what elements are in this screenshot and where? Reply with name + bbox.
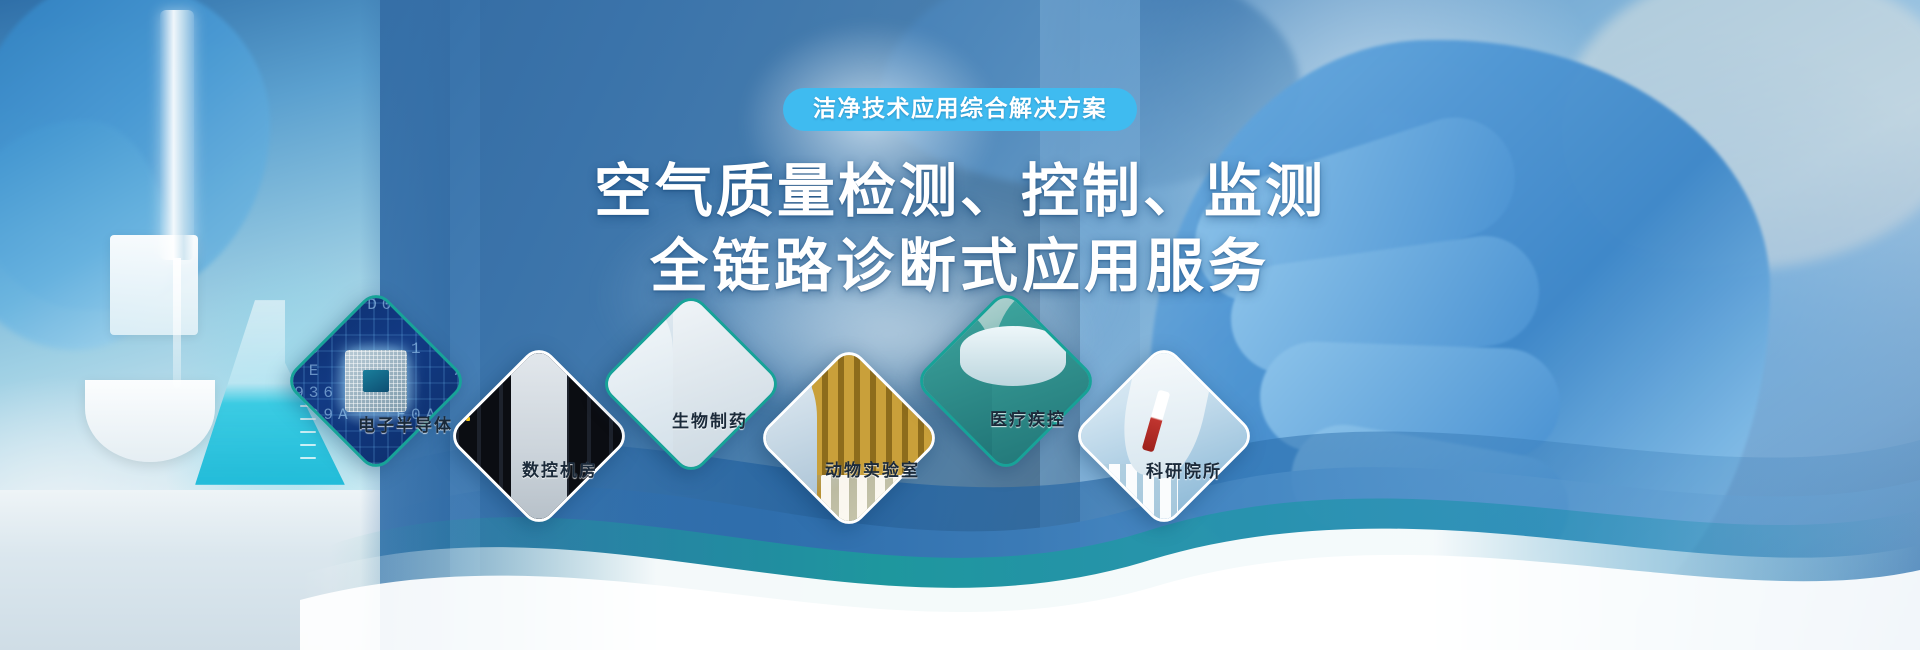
- industry-card-semiconductor[interactable]: 6A E2 F D0 5926 7 8 1 E2C 0 E BF3 A2693 …: [283, 288, 470, 475]
- industry-card-row: 6A E2 F D0 5926 7 8 1 E2C 0 E BF3 A2693 …: [0, 0, 1920, 650]
- chip-die-icon: [345, 350, 407, 412]
- biopharma-icon: [598, 291, 785, 478]
- card-label-medical: 医疗疾控: [990, 405, 1066, 430]
- server-led: [466, 417, 470, 421]
- animal-lab-icon: [756, 345, 943, 532]
- pharma-machine-shape: [673, 291, 779, 478]
- hero-banner: 洁净技术应用综合解决方案 空气质量检测、控制、监测 全链路诊断式应用服务 6A …: [0, 0, 1920, 650]
- card-label-animal-lab: 动物实验室: [825, 456, 920, 481]
- card-label-server-room: 数控机房: [522, 456, 598, 481]
- industry-card-medical[interactable]: [913, 288, 1100, 475]
- card-label-research: 科研院所: [1146, 457, 1222, 482]
- industry-card-biopharma[interactable]: [598, 291, 785, 478]
- industry-card-animal-lab[interactable]: [756, 345, 943, 532]
- semiconductor-chip-icon: 6A E2 F D0 5926 7 8 1 E2C 0 E BF3 A2693 …: [283, 288, 470, 475]
- surgical-tray-shape: [960, 326, 1066, 386]
- industry-card-server-room[interactable]: [446, 343, 633, 530]
- vials-shape: [821, 475, 942, 532]
- server-led: [620, 453, 624, 457]
- chip-glyph-icon: [363, 370, 389, 392]
- research-institute-icon: [1071, 343, 1258, 530]
- server-aisle: [511, 343, 567, 530]
- card-label-biopharma: 生物制药: [672, 407, 748, 432]
- card-label-semiconductor: 电子半导体: [358, 411, 453, 436]
- server-room-icon: [446, 343, 633, 530]
- medical-cdc-icon: [913, 288, 1100, 475]
- industry-card-research[interactable]: [1071, 343, 1258, 530]
